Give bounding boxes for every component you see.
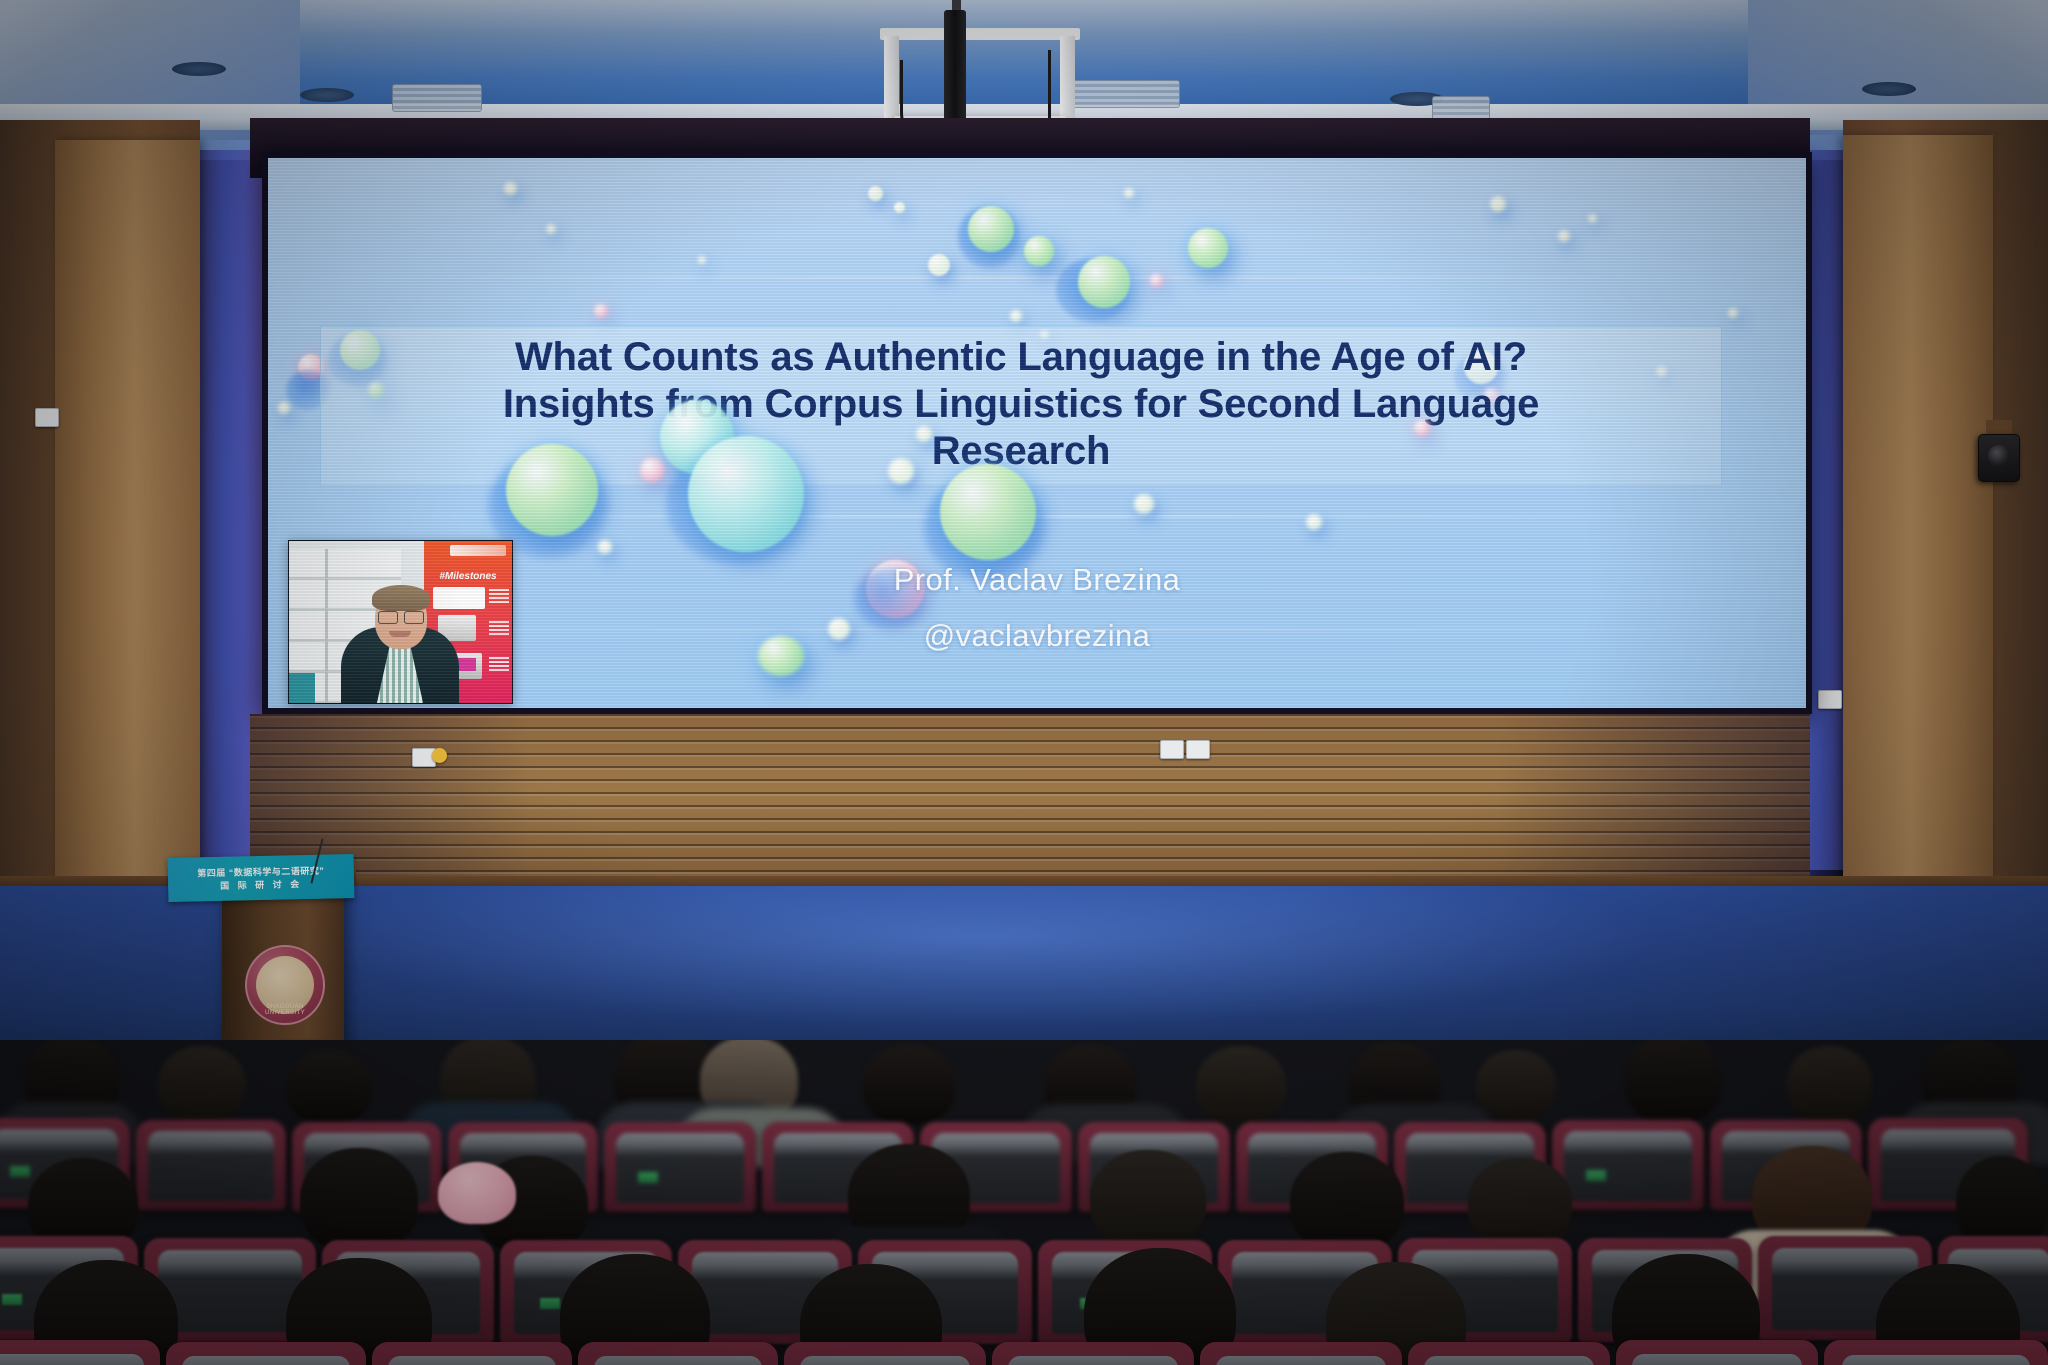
bubble	[278, 402, 290, 414]
bubble	[1010, 310, 1022, 322]
audience-head	[158, 1046, 246, 1122]
bubble	[1124, 188, 1134, 198]
bubble	[1150, 274, 1163, 287]
auditorium-seat[interactable]	[784, 1342, 986, 1365]
video-inset: #Milestones	[288, 540, 513, 704]
ceiling-downlight	[172, 62, 226, 76]
audience-head	[1624, 1040, 1722, 1124]
bubble	[940, 464, 1036, 560]
ceiling-downlight	[1862, 82, 1916, 96]
audience-area	[0, 1040, 2048, 1365]
auditorium-photo: What Counts as Authentic Language in the…	[0, 0, 2048, 1365]
auditorium-seat[interactable]	[1552, 1120, 1704, 1210]
auditorium-seat[interactable]	[604, 1122, 756, 1212]
podium-banner-line-2: 国 际 研 讨 会	[220, 877, 302, 892]
air-vent	[1068, 80, 1180, 108]
banner-card	[433, 587, 485, 609]
audience-head	[1786, 1046, 1872, 1122]
audience-head	[286, 1050, 372, 1124]
left-wood-column	[55, 140, 200, 885]
bubble	[640, 458, 664, 482]
auditorium-seat[interactable]	[166, 1342, 366, 1365]
auditorium-seat[interactable]	[1408, 1342, 1610, 1365]
screen-glow-band	[268, 276, 1806, 279]
bubble	[1306, 514, 1322, 530]
audience-head	[1468, 1158, 1572, 1250]
ceiling-downlight	[300, 88, 354, 102]
teal-object	[289, 673, 315, 703]
bubble	[546, 224, 556, 234]
bubble	[1490, 196, 1506, 212]
speaker-glasses	[378, 611, 424, 622]
bubble	[1728, 308, 1738, 318]
bubble	[916, 426, 932, 442]
speaker-mouth	[389, 631, 411, 637]
right-wood-column	[1843, 135, 1993, 885]
bubble	[868, 186, 883, 201]
wall-outlet	[35, 408, 59, 427]
podium-banner-line-1: 第四届 “数据科学与二语研究”	[197, 864, 324, 880]
auditorium-seat[interactable]	[0, 1340, 160, 1365]
auditorium-seat[interactable]	[136, 1120, 286, 1210]
bubble	[594, 304, 608, 318]
bubble	[888, 458, 914, 484]
university-emblem: SHAOGUAN UNIVERSITY	[245, 945, 325, 1025]
slide-title-line-1: What Counts as Authentic Language in the…	[330, 334, 1712, 381]
led-screen-frame: What Counts as Authentic Language in the…	[262, 152, 1812, 714]
stage-outlet-plug	[432, 748, 447, 763]
led-screen: What Counts as Authentic Language in the…	[268, 158, 1806, 708]
auditorium-seat[interactable]	[1200, 1342, 1402, 1365]
auditorium-seat[interactable]	[992, 1342, 1194, 1365]
audience-head	[300, 1148, 418, 1252]
audience-head	[862, 1044, 956, 1124]
emblem-text: SHAOGUAN UNIVERSITY	[247, 1004, 323, 1016]
bubble	[1588, 214, 1597, 223]
audience-head	[1290, 1152, 1404, 1252]
podium-banner: 第四届 “数据科学与二语研究” 国 际 研 讨 会	[168, 854, 355, 902]
bubble	[1188, 228, 1228, 268]
bubble	[688, 436, 804, 552]
auditorium-seat[interactable]	[1824, 1340, 2048, 1365]
bubble	[894, 202, 905, 213]
bubble	[1134, 494, 1154, 514]
audience-head	[1196, 1046, 1286, 1124]
auditorium-seat[interactable]	[372, 1342, 572, 1365]
wall-outlet	[1818, 690, 1842, 709]
audience-head	[1476, 1050, 1556, 1120]
bubble	[504, 182, 517, 195]
bubble	[1078, 256, 1130, 308]
bubble	[1024, 236, 1054, 266]
bubble	[598, 540, 612, 554]
wall-speaker	[1978, 434, 2020, 482]
air-vent	[392, 84, 482, 112]
bubble	[928, 254, 950, 276]
banner-text-block	[489, 657, 509, 671]
auditorium-seat[interactable]	[1616, 1340, 1818, 1365]
bubble	[1414, 420, 1430, 436]
pink-knit-hat	[438, 1162, 516, 1224]
speaker-hair	[372, 585, 430, 611]
bubble	[506, 444, 598, 536]
stage-front-shading	[250, 714, 1810, 889]
banner-hashtag: #Milestones	[424, 571, 512, 582]
bubble	[698, 256, 706, 264]
banner-text-block	[489, 621, 509, 635]
stage-outlet	[1160, 740, 1184, 759]
speaker-bracket	[1986, 420, 2012, 434]
banner-text-block	[489, 589, 509, 603]
audience-head	[1090, 1150, 1206, 1250]
slide-title-line-2: Insights from Corpus Linguistics for Sec…	[330, 381, 1712, 428]
bubble	[968, 206, 1014, 252]
bubble	[1558, 230, 1570, 242]
stage-outlet	[1186, 740, 1210, 759]
university-logo	[450, 545, 506, 556]
auditorium-seat[interactable]	[578, 1342, 778, 1365]
bookshelf-divider	[325, 549, 328, 703]
projector-mount-bar	[880, 28, 1080, 40]
